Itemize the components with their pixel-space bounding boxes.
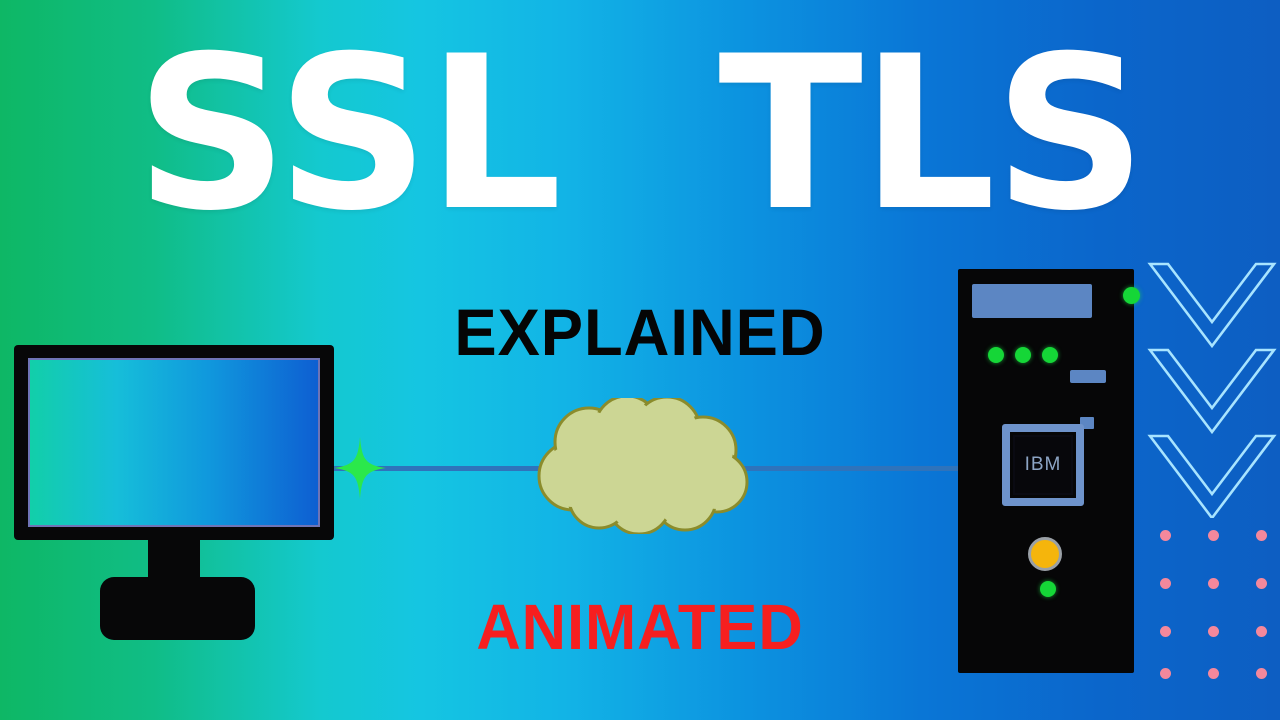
server-status-led-top xyxy=(1123,287,1140,304)
internet-cloud-icon xyxy=(527,398,759,534)
subtitle-animated: ANIMATED xyxy=(26,592,1255,662)
grid-dot xyxy=(1160,668,1171,679)
server-brand-frame: IBM xyxy=(1002,424,1084,506)
title-word-ssl: SSL xyxy=(135,34,560,234)
grid-dot xyxy=(1256,668,1267,679)
grid-dot xyxy=(1208,530,1219,541)
grid-dot xyxy=(1256,578,1267,589)
server-status-led-2 xyxy=(1015,347,1031,363)
grid-dot xyxy=(1160,530,1171,541)
grid-dot xyxy=(1208,668,1219,679)
title-word-tls: TLS xyxy=(718,34,1144,234)
grid-dot xyxy=(1160,578,1171,589)
server-status-led-row xyxy=(988,347,1088,363)
down-chevron-stack-icon xyxy=(1144,258,1280,518)
server-status-led-3 xyxy=(1042,347,1058,363)
grid-dot xyxy=(1256,626,1267,637)
server-display-panel xyxy=(972,284,1092,318)
thumbnail-canvas: SSL TLS EXPLAINED xyxy=(0,0,1280,720)
monitor-screen xyxy=(28,358,320,527)
server-brand-inner: IBM xyxy=(1013,435,1073,495)
grid-dot xyxy=(1208,578,1219,589)
secure-sparkle-icon xyxy=(334,437,386,499)
headline: SSL TLS xyxy=(0,34,1280,234)
server-power-button xyxy=(1028,537,1062,571)
server-brand-label: IBM xyxy=(1025,454,1062,476)
server-status-led-1 xyxy=(988,347,1004,363)
server-drive-slot xyxy=(1070,370,1106,383)
monitor-bezel xyxy=(14,345,334,540)
grid-dot xyxy=(1256,530,1267,541)
